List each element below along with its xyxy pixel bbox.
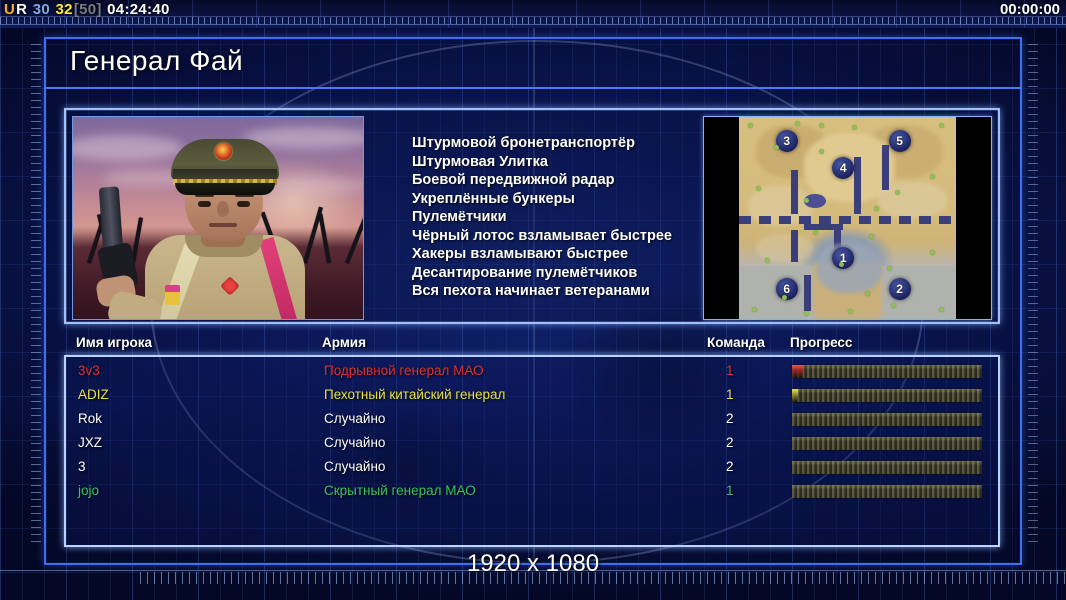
status-bar: UR 30 32[50] 04:24:40 00:00:00 bbox=[0, 0, 1066, 28]
player-army[interactable]: Случайно bbox=[324, 459, 385, 474]
general-portrait bbox=[72, 116, 364, 320]
player-name: jojo bbox=[78, 483, 99, 498]
table-row[interactable]: jojoСкрытный генерал МАО1 bbox=[66, 481, 998, 505]
table-row[interactable]: 3v3Подрывной генерал МАО1 bbox=[66, 361, 998, 385]
portrait-cap-visor bbox=[175, 183, 275, 195]
minimap-road bbox=[804, 224, 843, 230]
minimap-prop-icon bbox=[930, 174, 935, 179]
minimap-prop-icon bbox=[819, 123, 824, 128]
minimap-prop-icon bbox=[930, 250, 935, 255]
player-army[interactable]: Подрывной генерал МАО bbox=[324, 363, 484, 378]
player-table-header: Имя игрока Армия Команда Прогресс bbox=[64, 335, 1000, 355]
player-army[interactable]: Случайно bbox=[324, 435, 385, 450]
table-row[interactable]: JXZСлучайно2 bbox=[66, 433, 998, 457]
minimap-start-position[interactable]: 4 bbox=[832, 157, 854, 179]
ur-value-32: 32 bbox=[56, 1, 73, 18]
table-row[interactable]: RokСлучайно2 bbox=[66, 409, 998, 433]
progress-bar-gloss bbox=[792, 365, 982, 370]
minimap-prop-icon bbox=[939, 307, 944, 312]
column-header-progress: Прогресс bbox=[790, 335, 852, 350]
ur-prefix-u: U bbox=[4, 1, 15, 18]
column-header-name: Имя игрока bbox=[76, 335, 152, 350]
ability-item: Штурмовой бронетранспортёр bbox=[412, 134, 732, 153]
minimap-road bbox=[804, 275, 811, 311]
minimap-prop-icon bbox=[813, 230, 818, 235]
progress-bar-gloss bbox=[792, 389, 982, 394]
portrait-nose bbox=[217, 201, 229, 217]
progress-bar bbox=[792, 485, 982, 498]
minimap-road bbox=[854, 157, 861, 214]
table-row[interactable]: ADIZПехотный китайский генерал1 bbox=[66, 385, 998, 409]
ur-value-max: [50] bbox=[74, 1, 102, 18]
portrait-cap-badge bbox=[215, 143, 232, 160]
minimap-road bbox=[791, 170, 798, 214]
progress-bar-gloss bbox=[792, 485, 982, 490]
minimap-prop-icon bbox=[852, 125, 857, 130]
minimap-prop-icon bbox=[804, 311, 809, 316]
portrait-eye bbox=[237, 201, 250, 207]
ability-item: Вся пехота начинает ветеранами bbox=[412, 282, 732, 301]
minimap-prop-icon bbox=[748, 123, 753, 128]
player-team[interactable]: 2 bbox=[726, 411, 734, 426]
portrait-eye bbox=[198, 201, 211, 207]
ability-item: Хакеры взламывают быстрее bbox=[412, 245, 732, 264]
portrait-mouth bbox=[209, 223, 237, 227]
status-clock: 04:24:40 bbox=[107, 1, 169, 18]
minimap-start-position[interactable]: 5 bbox=[889, 130, 911, 152]
player-team[interactable]: 2 bbox=[726, 435, 734, 450]
player-army[interactable]: Скрытный генерал МАО bbox=[324, 483, 476, 498]
progress-bar-gloss bbox=[792, 437, 982, 442]
progress-bar bbox=[792, 365, 982, 378]
player-name: JXZ bbox=[78, 435, 102, 450]
minimap-prop-icon bbox=[804, 198, 809, 203]
ability-item: Десантирование пулемётчиков bbox=[412, 264, 732, 283]
minimap-prop-icon bbox=[865, 291, 870, 296]
page-title: Генерал Фай bbox=[70, 45, 243, 77]
minimap-start-position[interactable]: 2 bbox=[889, 278, 911, 300]
ability-item: Штурмовая Улитка bbox=[412, 153, 732, 172]
progress-bar bbox=[792, 389, 982, 402]
title-bar: Генерал Фай bbox=[44, 37, 1022, 89]
general-abilities-list: Штурмовой бронетранспортёрШтурмовая Улит… bbox=[412, 134, 732, 301]
player-team[interactable]: 2 bbox=[726, 459, 734, 474]
minimap-prop-icon bbox=[752, 307, 757, 312]
portrait-medal bbox=[165, 285, 180, 305]
minimap-road bbox=[791, 230, 798, 262]
player-name: ADIZ bbox=[78, 387, 109, 402]
left-ruler-decoration bbox=[31, 44, 41, 544]
player-army[interactable]: Случайно bbox=[324, 411, 385, 426]
ability-item: Пулемётчики bbox=[412, 208, 732, 227]
player-army[interactable]: Пехотный китайский генерал bbox=[324, 387, 505, 402]
status-bar-left-group: UR 30 32[50] 04:24:40 bbox=[4, 1, 171, 18]
minimap-prop-icon bbox=[939, 123, 944, 128]
player-team[interactable]: 1 bbox=[726, 483, 734, 498]
minimap-prop-icon bbox=[848, 309, 853, 314]
column-header-team: Команда bbox=[707, 335, 765, 350]
player-name: 3 bbox=[78, 459, 86, 474]
ability-item: Укреплённые бункеры bbox=[412, 190, 732, 209]
player-table: 3v3Подрывной генерал МАО1ADIZПехотный ки… bbox=[64, 355, 1000, 547]
minimap-prop-icon bbox=[774, 145, 779, 150]
minimap-road bbox=[739, 216, 956, 224]
progress-bar bbox=[792, 437, 982, 450]
player-team[interactable]: 1 bbox=[726, 363, 734, 378]
minimap-prop-icon bbox=[869, 234, 874, 239]
minimap-image: 354162 bbox=[739, 117, 956, 319]
minimap-road bbox=[882, 145, 889, 189]
portrait-cloud bbox=[273, 177, 364, 193]
right-ruler-decoration bbox=[1028, 44, 1038, 544]
progress-bar bbox=[792, 413, 982, 426]
column-header-army: Армия bbox=[322, 335, 366, 350]
table-row[interactable]: 3Случайно2 bbox=[66, 457, 998, 481]
minimap-prop-icon bbox=[874, 206, 879, 211]
progress-bar-gloss bbox=[792, 413, 982, 418]
resolution-label: 1920 x 1080 bbox=[0, 550, 1066, 578]
ability-item: Боевой передвижной радар bbox=[412, 171, 732, 190]
progress-bar bbox=[792, 461, 982, 474]
ur-value-30: 30 bbox=[33, 1, 50, 18]
minimap-prop-icon bbox=[891, 303, 896, 308]
minimap-prop-icon bbox=[765, 258, 770, 263]
game-lobby-screen: UR 30 32[50] 04:24:40 00:00:00 Генерал Ф… bbox=[0, 0, 1066, 600]
status-bar-rule bbox=[0, 24, 1066, 25]
status-timer: 00:00:00 bbox=[1000, 1, 1060, 18]
status-bar-ticks bbox=[0, 17, 1066, 24]
player-name: 3v3 bbox=[78, 363, 100, 378]
ability-item: Чёрный лотос взламывает быстрее bbox=[412, 227, 732, 246]
minimap-container[interactable]: 354162 bbox=[703, 116, 992, 320]
minimap-prop-icon bbox=[895, 190, 900, 195]
ur-prefix-r: R bbox=[16, 1, 27, 18]
general-info-panel: Штурмовой бронетранспортёрШтурмовая Улит… bbox=[64, 108, 1000, 324]
minimap-start-position[interactable]: 3 bbox=[776, 130, 798, 152]
player-team[interactable]: 1 bbox=[726, 387, 734, 402]
player-name: Rok bbox=[78, 411, 102, 426]
progress-bar-gloss bbox=[792, 461, 982, 466]
main-panel: Генерал Фай bbox=[44, 37, 1022, 565]
